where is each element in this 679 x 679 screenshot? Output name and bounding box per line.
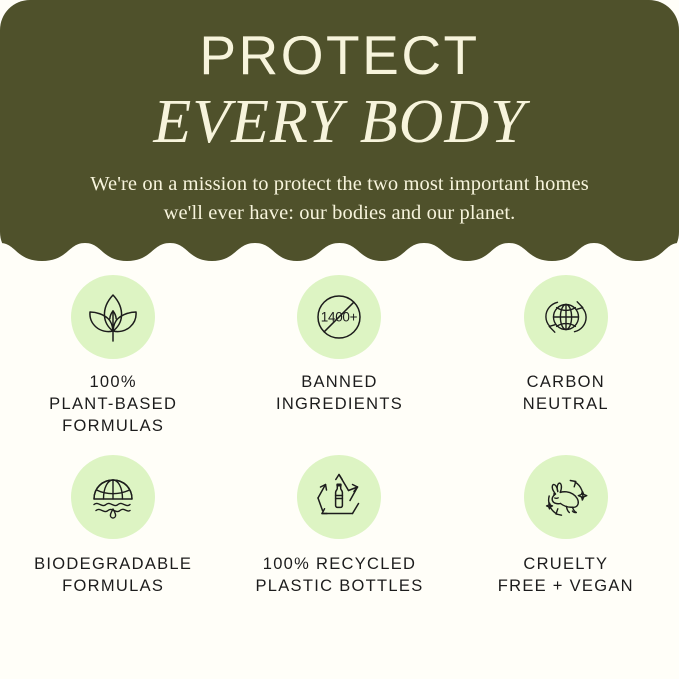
hero-title-primary: PROTECT [0, 25, 679, 85]
banned-ingredients-icon: 1400+ [311, 289, 367, 345]
hero-banner: PROTECT EVERY BODY We're on a mission to… [0, 0, 679, 262]
feature-label: BANNED INGREDIENTS [276, 371, 403, 415]
feature-icon-badge [524, 455, 608, 539]
hero-title-secondary: EVERY BODY [0, 88, 679, 156]
carbon-neutral-globe-icon [538, 289, 594, 345]
feature-icon-badge [71, 275, 155, 359]
feature-carbon-neutral: CARBON NEUTRAL [453, 275, 679, 437]
feature-row-bottom: BIODEGRADABLE FORMULAS [0, 455, 679, 597]
feature-label: CARBON NEUTRAL [523, 371, 609, 415]
feature-row-top: 100% PLANT-BASED FORMULAS 1400+ BANNED I… [0, 275, 679, 437]
feature-plant-based: 100% PLANT-BASED FORMULAS [0, 275, 226, 437]
feature-icon-badge: 1400+ [297, 275, 381, 359]
leaping-bunny-icon [538, 469, 594, 525]
hero-text-block: PROTECT EVERY BODY We're on a mission to… [0, 0, 679, 240]
feature-label: 100% RECYCLED PLASTIC BOTTLES [255, 553, 423, 597]
feature-recycled-bottles: 100% RECYCLED PLASTIC BOTTLES [226, 455, 452, 597]
feature-icon-badge [71, 455, 155, 539]
feature-label: 100% PLANT-BASED FORMULAS [49, 371, 177, 437]
feature-label: BIODEGRADABLE FORMULAS [34, 553, 192, 597]
feature-biodegradable: BIODEGRADABLE FORMULAS [0, 455, 226, 597]
feature-banned-ingredients: 1400+ BANNED INGREDIENTS [226, 275, 452, 437]
feature-cruelty-free-vegan: CRUELTY FREE + VEGAN [453, 455, 679, 597]
feature-icon-badge [524, 275, 608, 359]
hero-subtitle: We're on a mission to protect the two mo… [75, 170, 605, 228]
three-leaves-icon [85, 289, 141, 345]
feature-grid: 100% PLANT-BASED FORMULAS 1400+ BANNED I… [0, 275, 679, 597]
feature-label: CRUELTY FREE + VEGAN [498, 553, 634, 597]
brand-values-infographic: PROTECT EVERY BODY We're on a mission to… [0, 0, 679, 679]
banned-count-text: 1400+ [321, 310, 358, 325]
biodegradable-globe-water-icon [85, 469, 141, 525]
feature-icon-badge [297, 455, 381, 539]
recycled-bottle-icon [311, 469, 367, 525]
